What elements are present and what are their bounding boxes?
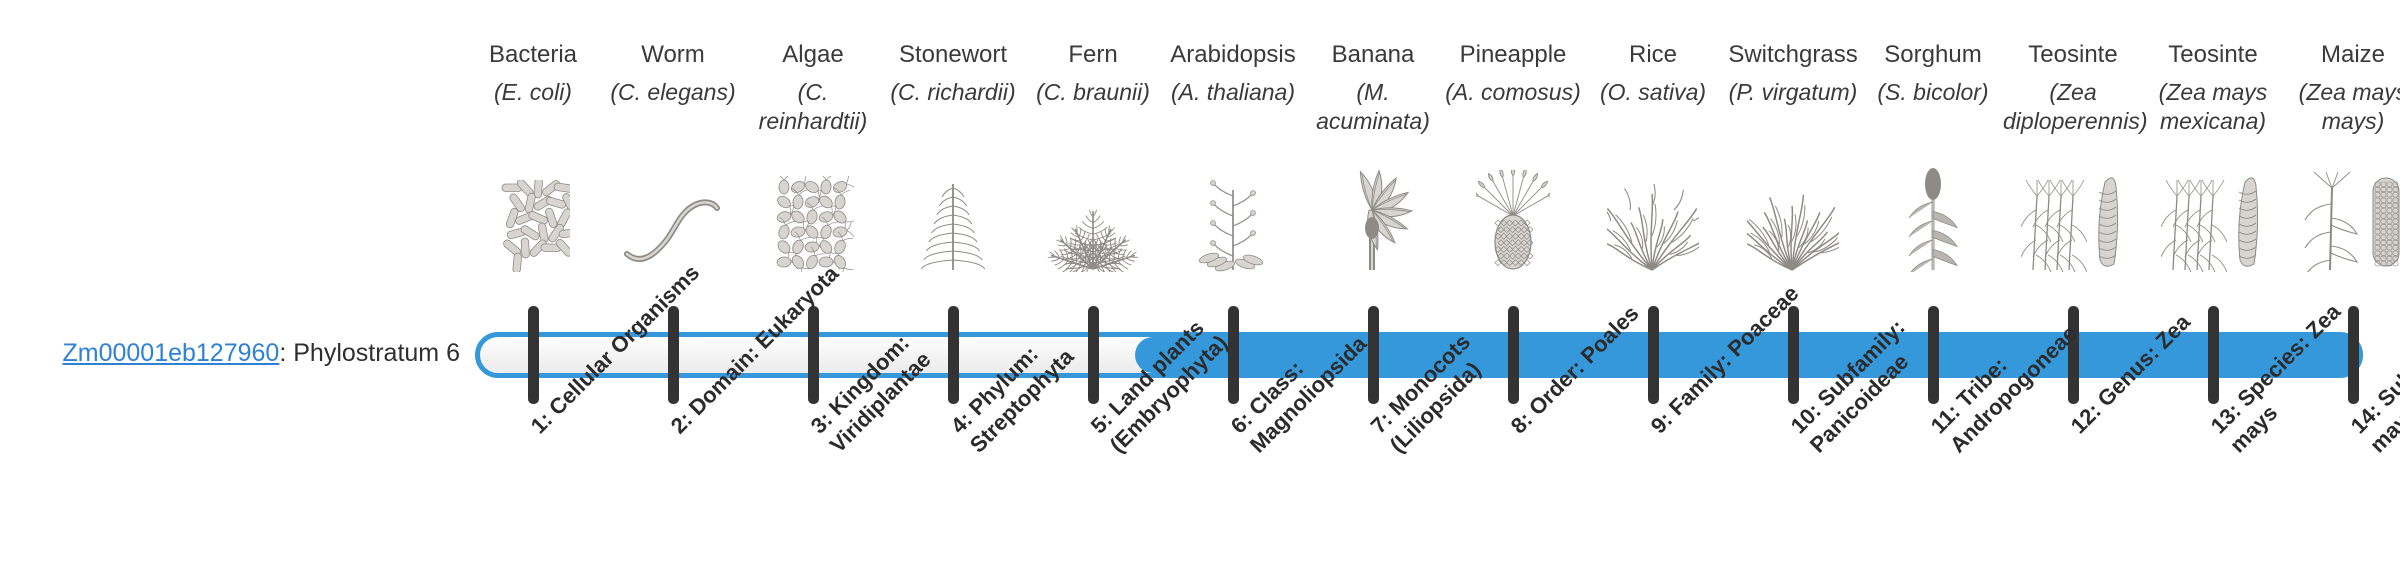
gene-label-separator: : xyxy=(279,339,293,367)
species-column-rice: Rice(O. sativa) xyxy=(1583,40,1723,107)
species-scientific-name: (O. sativa) xyxy=(1583,78,1723,107)
species-scientific-name: (E. coli) xyxy=(463,78,603,107)
species-common-name: Teosinte xyxy=(2003,40,2143,70)
tick-mark-9 xyxy=(1648,306,1659,404)
teosinte-icon xyxy=(2143,172,2283,272)
tick-mark-2 xyxy=(668,306,679,404)
species-common-name: Banana xyxy=(1303,40,1443,70)
stonewort-icon xyxy=(883,172,1023,272)
species-scientific-name: (A. comosus) xyxy=(1443,78,1583,107)
species-column-teosinte: Teosinte(Zea mays mexicana) xyxy=(2143,40,2283,136)
species-common-name: Worm xyxy=(603,40,743,70)
species-common-name: Sorghum xyxy=(1863,40,2003,70)
species-common-name: Algae xyxy=(743,40,883,70)
tick-mark-1 xyxy=(528,306,539,404)
species-scientific-name: (C. braunii) xyxy=(1023,78,1163,107)
species-common-name: Teosinte xyxy=(2143,40,2283,70)
species-common-name: Fern xyxy=(1023,40,1163,70)
species-scientific-name: (C. reinhardtii) xyxy=(743,78,883,136)
bacteria-icon xyxy=(463,172,603,272)
species-scientific-name: (C. richardii) xyxy=(883,78,1023,107)
species-common-name: Switchgrass xyxy=(1723,40,1863,70)
species-column-fern: Fern(C. braunii) xyxy=(1023,40,1163,107)
species-scientific-name: (Zea diploperennis) xyxy=(2003,78,2143,136)
species-common-name: Maize xyxy=(2283,40,2400,70)
species-scientific-name: (Zea mays mexicana) xyxy=(2143,78,2283,136)
switchgrass-icon xyxy=(1723,172,1863,272)
banana-icon xyxy=(1303,172,1443,272)
species-column-algae: Algae(C. reinhardtii) xyxy=(743,40,883,136)
species-scientific-name: (S. bicolor) xyxy=(1863,78,2003,107)
algae-icon xyxy=(743,172,883,272)
species-column-stonewort: Stonewort(C. richardii) xyxy=(883,40,1023,107)
species-scientific-name: (C. elegans) xyxy=(603,78,743,107)
species-scientific-name: (P. virgatum) xyxy=(1723,78,1863,107)
tick-mark-10 xyxy=(1788,306,1799,404)
species-scientific-name: (M. acuminata) xyxy=(1303,78,1443,136)
species-column-maize: Maize(Zea mays mays) xyxy=(2283,40,2400,136)
taxonomy-level-text: Species: Zea mays xyxy=(2225,299,2346,458)
gene-id-link[interactable]: Zm00001eb127960 xyxy=(62,339,279,367)
species-column-sorghum: Sorghum(S. bicolor) xyxy=(1863,40,2003,107)
maize-icon xyxy=(2283,172,2400,272)
tick-mark-3 xyxy=(808,306,819,404)
teosinte-icon xyxy=(2003,172,2143,272)
gene-phylostratum-label: Zm00001eb127960: Phylostratum 6 xyxy=(40,338,460,368)
species-column-arabidopsis: Arabidopsis(A. thaliana) xyxy=(1163,40,1303,107)
species-common-name: Arabidopsis xyxy=(1163,40,1303,70)
fern-icon xyxy=(1023,172,1163,272)
worm-icon xyxy=(603,172,743,272)
phylostratum-value-text: Phylostratum 6 xyxy=(293,339,460,367)
species-scientific-name: (A. thaliana) xyxy=(1163,78,1303,107)
rice-icon xyxy=(1583,172,1723,272)
species-column-banana: Banana(M. acuminata) xyxy=(1303,40,1443,136)
phylostratum-chart: Zm00001eb127960: Phylostratum 6 Bacteria… xyxy=(0,0,2400,580)
species-common-name: Stonewort xyxy=(883,40,1023,70)
species-column-pineapple: Pineapple(A. comosus) xyxy=(1443,40,1583,107)
sorghum-icon xyxy=(1863,172,2003,272)
species-scientific-name: (Zea mays mays) xyxy=(2283,78,2400,136)
tick-mark-13 xyxy=(2208,306,2219,404)
species-common-name: Bacteria xyxy=(463,40,603,70)
species-column-teosinte: Teosinte(Zea diploperennis) xyxy=(2003,40,2143,136)
pineapple-icon xyxy=(1443,172,1583,272)
taxonomy-level-number: 12: xyxy=(2066,398,2106,438)
species-column-bacteria: Bacteria(E. coli) xyxy=(463,40,603,107)
species-common-name: Rice xyxy=(1583,40,1723,70)
species-common-name: Pineapple xyxy=(1443,40,1583,70)
species-column-switchgrass: Switchgrass(P. virgatum) xyxy=(1723,40,1863,107)
species-column-worm: Worm(C. elegans) xyxy=(603,40,743,107)
arabidopsis-icon xyxy=(1163,172,1303,272)
